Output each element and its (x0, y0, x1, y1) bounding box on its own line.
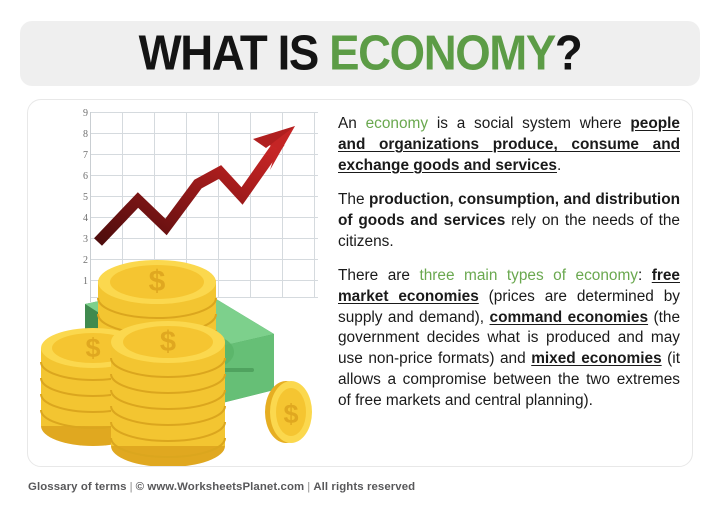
svg-text:$: $ (283, 399, 298, 429)
p3-colon: : (638, 267, 652, 284)
copyright-icon: © (136, 481, 145, 493)
y-tick: 5 (66, 193, 88, 203)
footer-separator: | (127, 481, 136, 493)
title-part-economy: ECONOMY (329, 26, 555, 80)
footer-credits: Glossary of terms|© www.WorksheetsPlanet… (28, 481, 415, 493)
cash-and-coin-stacks-icon: $ (38, 240, 321, 466)
economy-type-command: command economies (490, 309, 649, 326)
definition-text-column: An economy is a social system where peop… (310, 110, 693, 462)
p2-lead: The (338, 191, 369, 208)
paragraph-types: There are three main types of economy: f… (338, 266, 680, 413)
svg-text:$: $ (149, 265, 166, 298)
infographic-page: WHAT IS ECONOMY? (0, 0, 720, 509)
content-card: 9 8 7 6 5 4 3 2 1 (27, 99, 693, 467)
page-title: WHAT IS ECONOMY? (20, 29, 700, 78)
title-banner: WHAT IS ECONOMY? (20, 21, 700, 86)
svg-text:$: $ (85, 333, 100, 363)
svg-text:$: $ (160, 326, 176, 358)
p1-highlight-economy: economy (366, 115, 428, 132)
p3-lead: There are (338, 267, 419, 284)
p1-end: . (557, 157, 561, 174)
economy-type-mixed: mixed economies (531, 350, 661, 367)
footer-glossary-label: Glossary of terms (28, 481, 127, 493)
y-tick: 8 (66, 130, 88, 140)
footer: Glossary of terms|© www.WorksheetsPlanet… (0, 470, 720, 509)
footer-site-link[interactable]: www.WorksheetsPlanet.com (147, 481, 304, 493)
paragraph-production: The production, consumption, and distrib… (338, 190, 680, 253)
footer-separator: | (304, 481, 313, 493)
p1-lead: An (338, 115, 366, 132)
y-tick: 9 (66, 109, 88, 119)
p3-highlight-three-types: three main types of economy (419, 267, 638, 284)
up-trend-arrow-icon (90, 108, 318, 258)
paragraph-definition: An economy is a social system where peop… (338, 114, 680, 177)
title-question-mark: ? (555, 26, 581, 80)
footer-rights-label: All rights reserved (313, 481, 415, 493)
y-tick: 6 (66, 172, 88, 182)
title-part-what-is: WHAT IS (139, 26, 330, 80)
p1-mid: is a social system where (428, 115, 630, 132)
y-tick: 4 (66, 214, 88, 224)
y-tick: 7 (66, 151, 88, 161)
economy-illustration: 9 8 7 6 5 4 3 2 1 (28, 100, 321, 466)
